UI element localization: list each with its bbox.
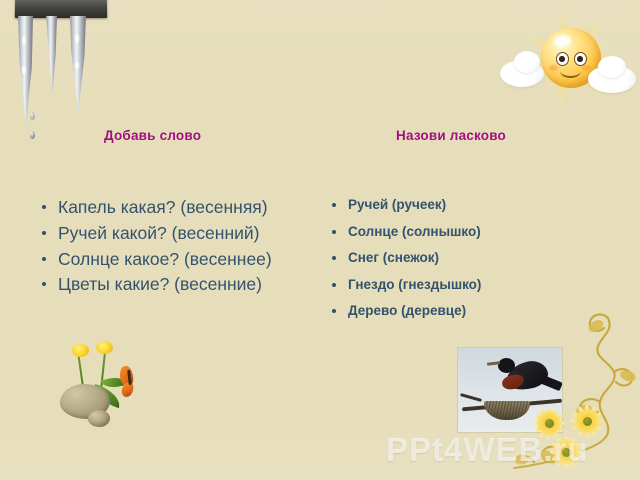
- list-item-text: Ручей какой? (весенний): [58, 223, 260, 243]
- list-item-text: Гнездо (гнездышко): [348, 277, 481, 292]
- bullet-icon: [42, 282, 46, 286]
- daisy-petal: [572, 410, 590, 424]
- column-heading-right: Назови ласково: [396, 128, 506, 143]
- sun-with-clouds-image: [494, 2, 638, 120]
- watermark-text: PPt4WEB.ru: [386, 431, 589, 469]
- icicles-image: [10, 0, 120, 135]
- bird-nest-photo: [458, 348, 562, 432]
- list-item: Дерево (деревце): [326, 302, 616, 320]
- list-item: Солнце (солнышко): [326, 223, 616, 241]
- daisy-petal: [585, 410, 603, 424]
- branch-stub: [460, 393, 482, 402]
- sun-cheek-right: [582, 65, 591, 71]
- column-heading-left: Добавь слово: [104, 128, 201, 143]
- sun-highlight: [554, 35, 571, 47]
- list-item-text: Капель какая? (весенняя): [58, 197, 268, 217]
- right-word-list: Ручей (ручеек) Солнце (солнышко) Снег (с…: [326, 196, 616, 329]
- sun-smile: [560, 64, 581, 78]
- bullet-icon: [42, 205, 46, 209]
- nest: [484, 401, 530, 420]
- daisy-petal: [585, 418, 603, 432]
- list-item: Цветы какие? (весенние): [36, 273, 306, 296]
- daisy-core: [583, 417, 592, 426]
- slide-canvas: Добавь слово Назови ласково Капель какая…: [0, 0, 640, 480]
- icicle-gloss: [75, 34, 79, 43]
- bullet-icon: [332, 283, 336, 287]
- daisy-petal: [571, 418, 588, 424]
- roof-edge: [15, 0, 107, 18]
- icicle-gloss: [75, 62, 79, 69]
- left-question-list: Капель какая? (весенняя) Ручей какой? (в…: [36, 196, 306, 299]
- daisy-petal: [584, 406, 598, 424]
- cloud-right-top: [598, 56, 626, 78]
- list-item: Ручей (ручеек): [326, 196, 616, 214]
- daisy-petal: [572, 418, 590, 432]
- daisy-petal: [576, 406, 590, 424]
- list-item-text: Солнце какое? (весеннее): [58, 249, 272, 269]
- list-item-text: Снег (снежок): [348, 250, 439, 265]
- bullet-icon: [332, 309, 336, 313]
- list-item: Капель какая? (весенняя): [36, 196, 306, 219]
- list-item: Ручей какой? (весенний): [36, 222, 306, 245]
- list-item: Снег (снежок): [326, 249, 616, 267]
- bullet-icon: [42, 231, 46, 235]
- dandelion-flower: [96, 341, 113, 354]
- icicle-2: [46, 16, 57, 94]
- icicle-gloss: [22, 36, 26, 45]
- list-item: Гнездо (гнездышко): [326, 276, 616, 294]
- daisy-petal: [586, 418, 603, 424]
- bullet-icon: [332, 256, 336, 260]
- dandelion-butterfly-image: [58, 344, 176, 440]
- cloud-left-top: [514, 51, 540, 73]
- list-item-text: Цветы какие? (весенние): [58, 274, 262, 294]
- list-item-text: Дерево (деревце): [348, 303, 466, 318]
- dandelion-flower: [72, 344, 89, 357]
- sun-cheek-left: [549, 65, 558, 71]
- bullet-icon: [332, 230, 336, 234]
- stone-small: [88, 410, 110, 427]
- icicle-gloss: [22, 66, 26, 74]
- bullet-icon: [42, 257, 46, 261]
- list-item: Солнце какое? (весеннее): [36, 248, 306, 271]
- water-drop: [30, 112, 35, 120]
- bullet-icon: [332, 203, 336, 207]
- bird-head: [498, 358, 515, 373]
- water-drop: [30, 131, 35, 139]
- list-item-text: Ручей (ручеек): [348, 197, 446, 212]
- list-item-text: Солнце (солнышко): [348, 224, 481, 239]
- daisy-petal: [584, 405, 590, 422]
